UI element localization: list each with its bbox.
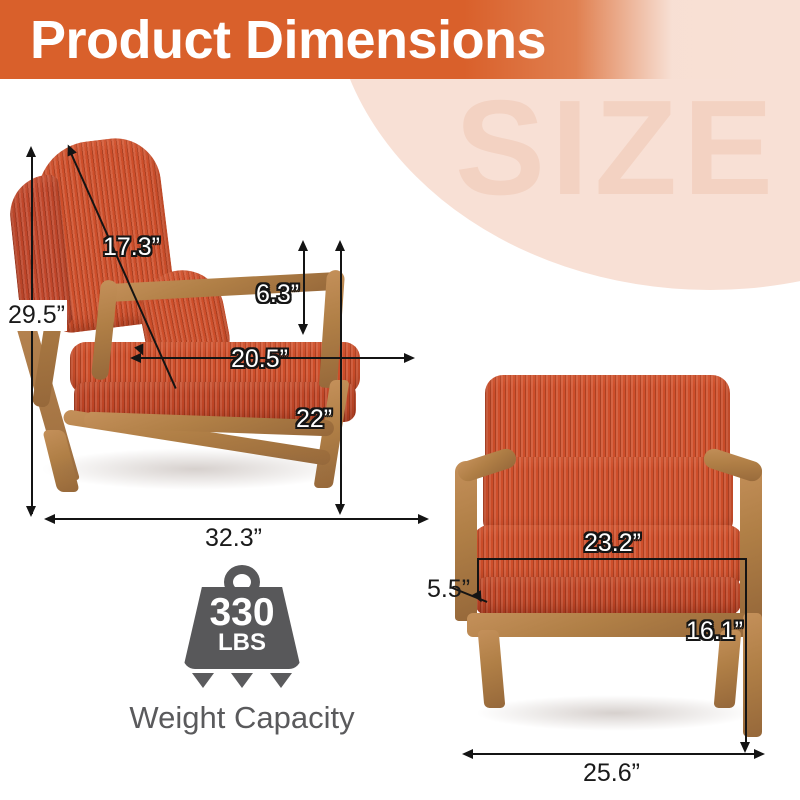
- dimension-label-overall-depth: 32.3”: [205, 524, 262, 553]
- header-banner: Product Dimensions: [0, 0, 800, 79]
- dimension-label-seat-width: 23.2”: [584, 529, 641, 558]
- product-dimensions-infographic: SIZE Product Dimensions: [0, 0, 800, 800]
- dimension-label-overall-width: 25.6”: [583, 759, 640, 788]
- triangle-down-icon-2: [231, 673, 253, 688]
- front-left-leg: [478, 630, 506, 708]
- size-watermark-text: SIZE: [455, 70, 779, 225]
- weight-arrows-row: [183, 673, 301, 688]
- dimension-label-seat-cushion-thickness: 6.3”: [256, 280, 299, 309]
- front-lumbar-pillow: [483, 457, 733, 535]
- front-right-armrest: [740, 461, 762, 621]
- weight-capacity-number: 330: [183, 593, 301, 632]
- dimension-label-seat-height: 16.1”: [686, 617, 743, 646]
- weight-capacity-block: 330 LBS Weight Capacity: [108, 565, 376, 736]
- dimension-label-overall-height: 29.5”: [6, 300, 67, 331]
- triangle-down-icon-3: [270, 673, 292, 688]
- dimension-label-armrest-height: 22”: [296, 405, 332, 434]
- weight-icon: 330 LBS: [183, 565, 301, 669]
- weight-capacity-caption: Weight Capacity: [108, 700, 376, 736]
- triangle-down-icon-1: [192, 673, 214, 688]
- dimension-label-cushion-thickness: 5.5”: [427, 575, 470, 604]
- front-seat-base-cushion: [475, 577, 741, 615]
- dimension-label-seat-depth: 20.5”: [231, 345, 288, 374]
- weight-capacity-unit: LBS: [183, 631, 301, 655]
- chair-front-view: [455, 375, 775, 745]
- dimension-label-backrest-height: 17.3”: [103, 233, 160, 262]
- page-title: Product Dimensions: [30, 6, 546, 74]
